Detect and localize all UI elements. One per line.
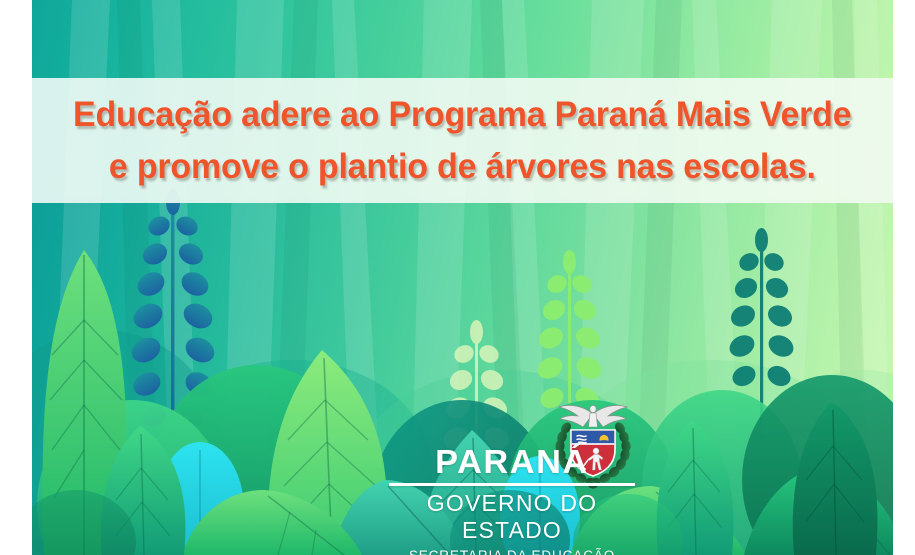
logo-divider-rule — [389, 483, 635, 486]
headline: Educação adere ao Programa Paraná Mais V… — [32, 78, 893, 203]
logo-state-name: PARANÁ — [382, 444, 642, 480]
logo-text-block: PARANÁ GOVERNO DO ESTADO SECRETARIA DA E… — [387, 444, 637, 555]
headline-line-1: Educação adere ao Programa Paraná Mais V… — [73, 89, 851, 141]
logo-government-line: GOVERNO DO ESTADO — [387, 490, 637, 544]
parana-government-logo: PARANÁ GOVERNO DO ESTADO SECRETARIA DA E… — [387, 398, 647, 548]
poster-canvas: Educação adere ao Programa Paraná Mais V… — [32, 0, 893, 555]
logo-department-line-1: SECRETARIA DA EDUCAÇÃO — [387, 547, 637, 555]
headline-line-2: e promove o plantio de árvores nas escol… — [109, 141, 816, 193]
